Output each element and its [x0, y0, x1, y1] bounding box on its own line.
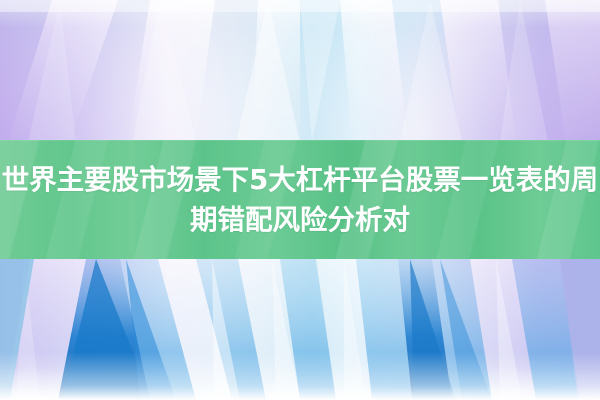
title-line-1: 世界主要股市场景下5大杠杆平台股票一览表的周: [0, 160, 600, 200]
green-title-band: 世界主要股市场景下5大杠杆平台股票一览表的周 期错配风险分析对: [0, 140, 600, 259]
page-title: 世界主要股市场景下5大杠杆平台股票一览表的周 期错配风险分析对: [0, 160, 600, 240]
banner-image: 世界主要股市场景下5大杠杆平台股票一览表的周 期错配风险分析对: [0, 0, 600, 400]
title-line-2: 期错配风险分析对: [0, 200, 600, 240]
